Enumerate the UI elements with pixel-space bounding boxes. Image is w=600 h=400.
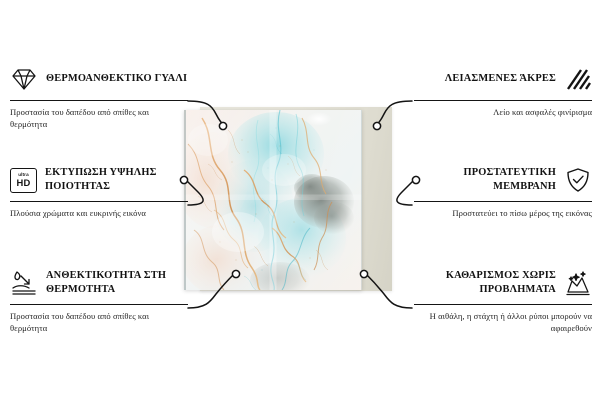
sparkle-clean-icon: [564, 269, 592, 297]
feature-rule: [10, 201, 188, 202]
feature-easy-cleaning: ΚΑΘΑΡΙΣΜΟΣ ΧΩΡΙΣ ΠΡΟΒΛΗΜΑΤΑ Η αιθάλη, η …: [414, 266, 592, 335]
feature-header: ΑΝΘΕΚΤΙΚΟΤΗΤΑ ΣΤΗ ΘΕΡΜΟΤΗΤΑ: [10, 266, 188, 300]
feature-protective-membrane: ΠΡΟΣΤΑΤΕΥΤΙΚΗ ΜΕΜΒΡΑΝΗ Προστατεύει το πί…: [414, 163, 592, 219]
shield-check-icon: [564, 166, 592, 194]
feature-smoothed-edges: ΛΕΙΑΣΜΕΝΕΣ ΆΚΡΕΣ Λείο και ασφαλές φινίρι…: [414, 62, 592, 118]
feature-header: ΠΡΟΣΤΑΤΕΥΤΙΚΗ ΜΕΜΒΡΑΝΗ: [414, 163, 592, 197]
feature-title: ΛΕΙΑΣΜΕΝΕΣ ΆΚΡΕΣ: [445, 72, 556, 86]
marble-artwork-svg: [184, 110, 362, 290]
feature-header: ΚΑΘΑΡΙΣΜΟΣ ΧΩΡΙΣ ΠΡΟΒΛΗΜΑΤΑ: [414, 266, 592, 300]
feature-title: ΚΑΘΑΡΙΣΜΟΣ ΧΩΡΙΣ ΠΡΟΒΛΗΜΑΤΑ: [414, 269, 556, 296]
feature-description: Η αιθάλη, η στάχτη ή άλλοι ρύποι μπορούν…: [414, 310, 592, 335]
feature-rule: [414, 201, 592, 202]
feature-description: Λείο και ασφαλές φινίρισμα: [414, 106, 592, 118]
feature-title: ΘΕΡΜΟΑΝΘΕΚΤΙΚΟ ΓΥΑΛΙ: [46, 72, 187, 86]
feature-title: ΕΚΤΥΠΩΣΗ ΥΨΗΛΗΣ ΠΟΙΟΤΗΤΑΣ: [45, 166, 188, 193]
ultra-hd-icon: ultra HD: [10, 168, 37, 193]
feature-title: ΠΡΟΣΤΑΤΕΥΤΙΚΗ ΜΕΜΒΡΑΝΗ: [414, 166, 556, 193]
infographic-stage: ΘΕΡΜΟΑΝΘΕΚΤΙΚΟ ΓΥΑΛΙ Προστασία του δαπέδ…: [0, 0, 600, 400]
feature-rule: [10, 304, 188, 305]
feature-header: ultra HD ΕΚΤΥΠΩΣΗ ΥΨΗΛΗΣ ΠΟΙΟΤΗΤΑΣ: [10, 163, 188, 197]
feature-rule: [414, 100, 592, 101]
feature-header: ΛΕΙΑΣΜΕΝΕΣ ΆΚΡΕΣ: [414, 62, 592, 96]
feature-description: Προστασία του δαπέδου από σπίθες και θερ…: [10, 106, 188, 131]
glass-panel-artwork: [184, 110, 362, 290]
feature-high-quality-print: ultra HD ΕΚΤΥΠΩΣΗ ΥΨΗΛΗΣ ΠΟΙΟΤΗΤΑΣ Πλούσ…: [10, 163, 188, 219]
diagonal-stripes-icon: [564, 65, 592, 93]
feature-heat-durability: ΑΝΘΕΚΤΙΚΟΤΗΤΑ ΣΤΗ ΘΕΡΜΟΤΗΤΑ Προστασία το…: [10, 266, 188, 335]
product-image: [184, 110, 388, 290]
feature-heat-resistant-glass: ΘΕΡΜΟΑΝΘΕΚΤΙΚΟ ΓΥΑΛΙ Προστασία του δαπέδ…: [10, 62, 188, 131]
feature-title: ΑΝΘΕΚΤΙΚΟΤΗΤΑ ΣΤΗ ΘΕΡΜΟΤΗΤΑ: [46, 269, 188, 296]
feature-description: Προστατεύει το πίσω μέρος της εικόνας: [414, 207, 592, 219]
flame-deflect-icon: [10, 269, 38, 297]
feature-rule: [10, 100, 188, 101]
feature-rule: [414, 304, 592, 305]
hd-label: HD: [17, 178, 31, 187]
diamond-icon: [10, 65, 38, 93]
feature-description: Προστασία του δαπέδου από σπίθες και θερ…: [10, 310, 188, 335]
feature-header: ΘΕΡΜΟΑΝΘΕΚΤΙΚΟ ΓΥΑΛΙ: [10, 62, 188, 96]
feature-description: Πλούσια χρώματα και ευκρινής εικόνα: [10, 207, 188, 219]
